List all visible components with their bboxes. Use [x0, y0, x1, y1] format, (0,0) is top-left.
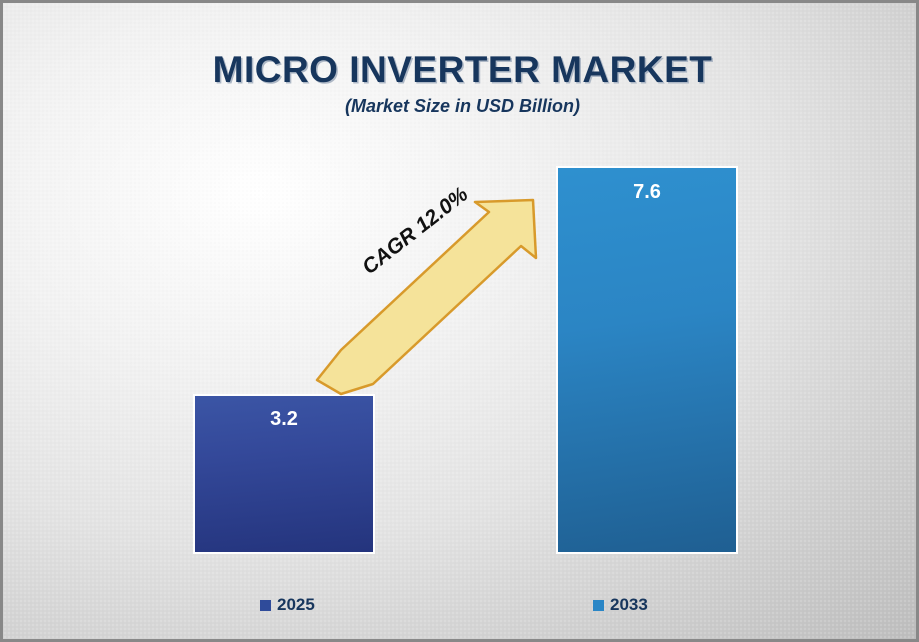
bar-value-label-2025: 3.2: [195, 408, 373, 431]
plot-area: 3.2 7.6 CAGR 12.0%: [3, 3, 919, 642]
legend-label-2025: 2025: [277, 595, 315, 615]
bar-2025: 3.2: [193, 394, 375, 554]
chart-legend: 2025 2033: [3, 595, 919, 625]
bar-2033: 7.6: [556, 166, 738, 554]
chart-canvas: MICRO INVERTER MARKET (Market Size in US…: [0, 0, 919, 642]
legend-item-2033[interactable]: 2033: [593, 595, 648, 615]
legend-item-2025[interactable]: 2025: [260, 595, 315, 615]
legend-swatch-icon-2025: [260, 600, 271, 611]
legend-label-2033: 2033: [610, 595, 648, 615]
bar-value-label-2033: 7.6: [558, 181, 736, 204]
legend-swatch-icon-2033: [593, 600, 604, 611]
